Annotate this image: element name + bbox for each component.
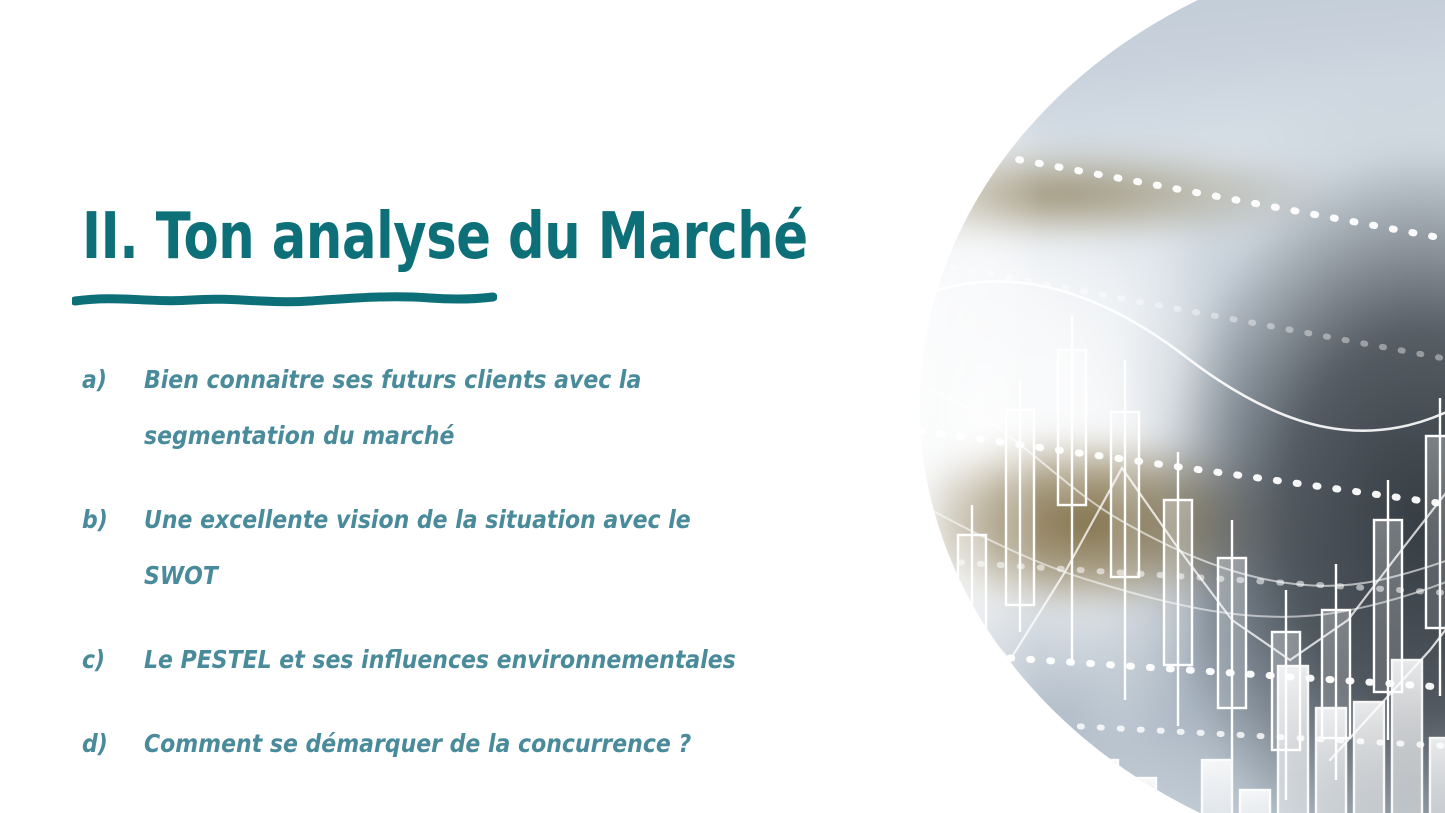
- list-item: a) Bien connaitre ses futurs clients ave…: [82, 352, 892, 464]
- list-item: c) Le PESTEL et ses influences environne…: [82, 632, 892, 688]
- content-column: II. Ton analyse du Marché a) Bien connai…: [0, 0, 900, 813]
- ordered-list: a) Bien connaitre ses futurs clients ave…: [82, 352, 892, 800]
- market-chart-overlay: [860, 0, 1445, 813]
- list-item-marker: d): [82, 716, 137, 772]
- list-item-label: Une excellente vision de la situation av…: [144, 492, 760, 604]
- page-title: II. Ton analyse du Marché: [82, 198, 722, 276]
- list-item: d) Comment se démarquer de la concurrenc…: [82, 716, 892, 772]
- stock-market-photo: 6.6▼1.65: [860, 0, 1445, 813]
- list-item-label: Bien connaitre ses futurs clients avec l…: [144, 352, 707, 464]
- list-item-marker: b): [82, 492, 137, 548]
- slide: II. Ton analyse du Marché a) Bien connai…: [0, 0, 1445, 813]
- photo-inner: 6.6▼1.65: [860, 0, 1445, 813]
- list-item-marker: c): [82, 632, 137, 688]
- list-item: b) Une excellente vision de la situation…: [82, 492, 892, 604]
- title-underline-decoration: [72, 286, 497, 312]
- list-item-marker: a): [82, 352, 137, 408]
- list-item-label: Le PESTEL et ses influences environnemen…: [144, 632, 760, 688]
- list-item-label: Comment se démarquer de la concurrence ?: [144, 716, 760, 772]
